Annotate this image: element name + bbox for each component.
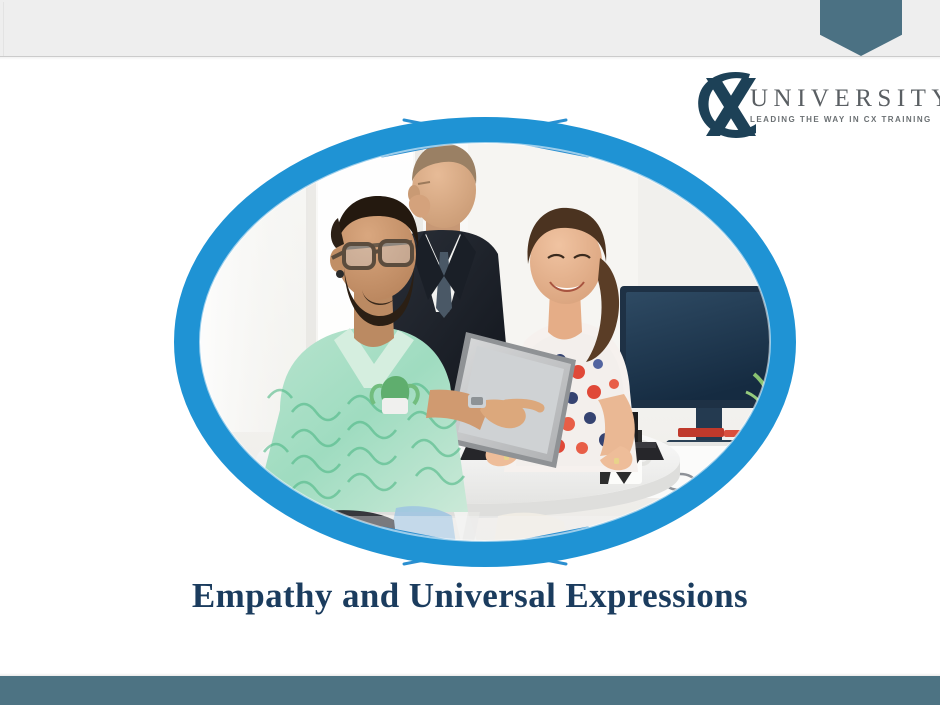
photo-oval-frame: [168, 112, 802, 572]
photo-content: [168, 112, 802, 572]
footer-bar: [0, 676, 940, 705]
header-left-edge: [3, 2, 4, 56]
slide-canvas: UNIVERSITY LEADING THE WAY IN CX TRAININ…: [0, 0, 940, 705]
logo-university-text: UNIVERSITY: [750, 86, 930, 111]
photo-oval-svg: [168, 112, 802, 572]
header-band: [0, 0, 940, 57]
slide-title: Empathy and Universal Expressions: [0, 576, 940, 616]
